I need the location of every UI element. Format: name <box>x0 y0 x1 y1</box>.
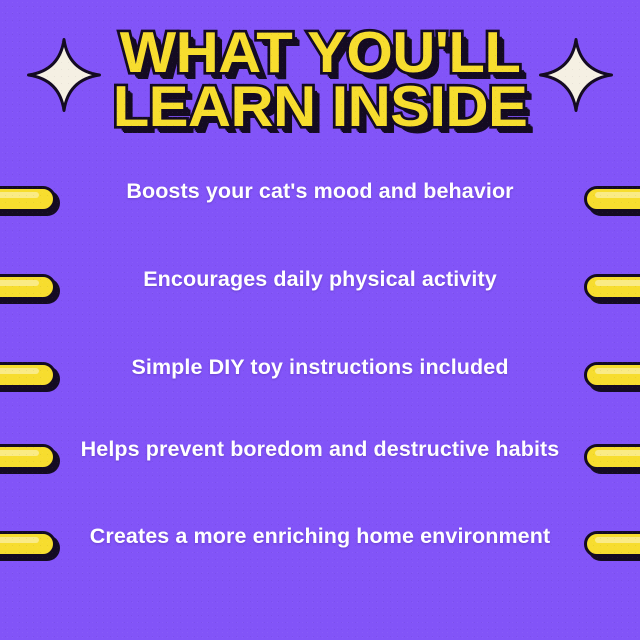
list-item-label: Helps prevent boredom and destructive ha… <box>70 436 570 462</box>
list-item-label: Creates a more enriching home environmen… <box>70 523 570 549</box>
list-item: Simple DIY toy instructions included <box>0 340 640 428</box>
title-line-2: LEARN INSIDE <box>0 80 640 136</box>
list-item: Creates a more enriching home environmen… <box>0 509 640 597</box>
bullet-pill-left <box>0 531 56 557</box>
bullet-pill-right <box>584 531 640 557</box>
poster-canvas: WHAT YOU'LL LEARN INSIDE Boosts your cat… <box>0 0 640 640</box>
bullet-pill-right <box>584 186 640 212</box>
bullet-pill-left <box>0 274 56 300</box>
list-item: Boosts your cat's mood and behavior <box>0 164 640 252</box>
list-item: Encourages daily physical activity <box>0 252 640 340</box>
list-item-label: Encourages daily physical activity <box>70 266 570 292</box>
bullet-pill-left <box>0 444 56 470</box>
title-line-1: WHAT YOU'LL <box>0 26 640 82</box>
bullet-pill-right <box>584 362 640 388</box>
list-item: Helps prevent boredom and destructive ha… <box>0 422 640 510</box>
list-item-label: Simple DIY toy instructions included <box>70 354 570 380</box>
list-item-label: Boosts your cat's mood and behavior <box>70 178 570 204</box>
bullet-pill-left <box>0 362 56 388</box>
bullet-pill-left <box>0 186 56 212</box>
bullet-pill-right <box>584 444 640 470</box>
benefit-list: Boosts your cat's mood and behavior Enco… <box>0 150 640 620</box>
page-title: WHAT YOU'LL LEARN INSIDE <box>0 26 640 127</box>
bullet-pill-right <box>584 274 640 300</box>
poster-header: WHAT YOU'LL LEARN INSIDE <box>0 0 640 150</box>
